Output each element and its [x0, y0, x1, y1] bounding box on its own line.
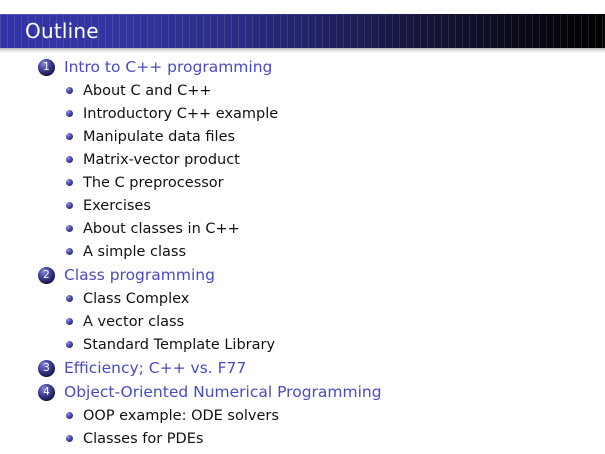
subsection-label: Matrix-vector product: [83, 152, 240, 168]
bullet-icon: [66, 156, 73, 163]
subsection-label: The C preprocessor: [83, 175, 224, 191]
outline-subsection-item[interactable]: Manipulate data files: [0, 125, 605, 148]
subsection-label: Classes for PDEs: [83, 431, 203, 447]
outline-subsection-item[interactable]: OOP example: ODE solvers: [0, 404, 605, 427]
section-number-badge: 1: [38, 59, 55, 76]
subsection-label: Introductory C++ example: [83, 106, 278, 122]
outline-section-item[interactable]: 4Object-Oriented Numerical Programming: [0, 380, 605, 404]
outline-subsection-item[interactable]: Exercises: [0, 194, 605, 217]
outline-subsection-item[interactable]: A vector class: [0, 310, 605, 333]
bullet-icon: [66, 341, 73, 348]
outline-subsection-item[interactable]: Classes for PDEs: [0, 427, 605, 450]
title-bar-shadow: [0, 48, 605, 55]
subsection-label: Standard Template Library: [83, 337, 275, 353]
slide-title: Outline: [25, 19, 99, 43]
outline-list: 1Intro to C++ programmingAbout C and C++…: [0, 55, 605, 450]
slide-title-bar: Outline: [0, 14, 605, 48]
subsection-label: Manipulate data files: [83, 129, 235, 145]
subsection-label: About classes in C++: [83, 221, 240, 237]
outline-section-item[interactable]: 2Class programming: [0, 263, 605, 287]
bullet-icon: [66, 295, 73, 302]
title-bar-highlight-line: [0, 14, 605, 15]
presentation-slide: Outline 1Intro to C++ programmingAbout C…: [0, 0, 605, 454]
section-label: Class programming: [64, 266, 215, 284]
subsection-label: A vector class: [83, 314, 184, 330]
outline-subsection-item[interactable]: Standard Template Library: [0, 333, 605, 356]
outline-subsection-item[interactable]: Matrix-vector product: [0, 148, 605, 171]
bullet-icon: [66, 412, 73, 419]
bullet-icon: [66, 248, 73, 255]
outline-subsection-item[interactable]: About classes in C++: [0, 217, 605, 240]
subsection-label: OOP example: ODE solvers: [83, 408, 279, 424]
outline-subsection-item[interactable]: The C preprocessor: [0, 171, 605, 194]
section-number-badge: 3: [38, 360, 55, 377]
subsection-label: Class Complex: [83, 291, 189, 307]
bullet-icon: [66, 435, 73, 442]
bullet-icon: [66, 110, 73, 117]
subsection-label: Exercises: [83, 198, 151, 214]
bullet-icon: [66, 179, 73, 186]
outline-subsection-item[interactable]: A simple class: [0, 240, 605, 263]
section-label: Object-Oriented Numerical Programming: [64, 383, 382, 401]
bullet-icon: [66, 225, 73, 232]
section-label: Efficiency; C++ vs. F77: [64, 359, 246, 377]
subsection-label: A simple class: [83, 244, 186, 260]
outline-subsection-item[interactable]: Class Complex: [0, 287, 605, 310]
outline-subsection-item[interactable]: Introductory C++ example: [0, 102, 605, 125]
outline-section-item[interactable]: 3Efficiency; C++ vs. F77: [0, 356, 605, 380]
section-number-badge: 4: [38, 384, 55, 401]
outline-section-item[interactable]: 1Intro to C++ programming: [0, 55, 605, 79]
subsection-label: About C and C++: [83, 83, 212, 99]
section-label: Intro to C++ programming: [64, 58, 272, 76]
section-number-badge: 2: [38, 267, 55, 284]
outline-subsection-item[interactable]: About C and C++: [0, 79, 605, 102]
bullet-icon: [66, 133, 73, 140]
bullet-icon: [66, 318, 73, 325]
bullet-icon: [66, 202, 73, 209]
bullet-icon: [66, 87, 73, 94]
